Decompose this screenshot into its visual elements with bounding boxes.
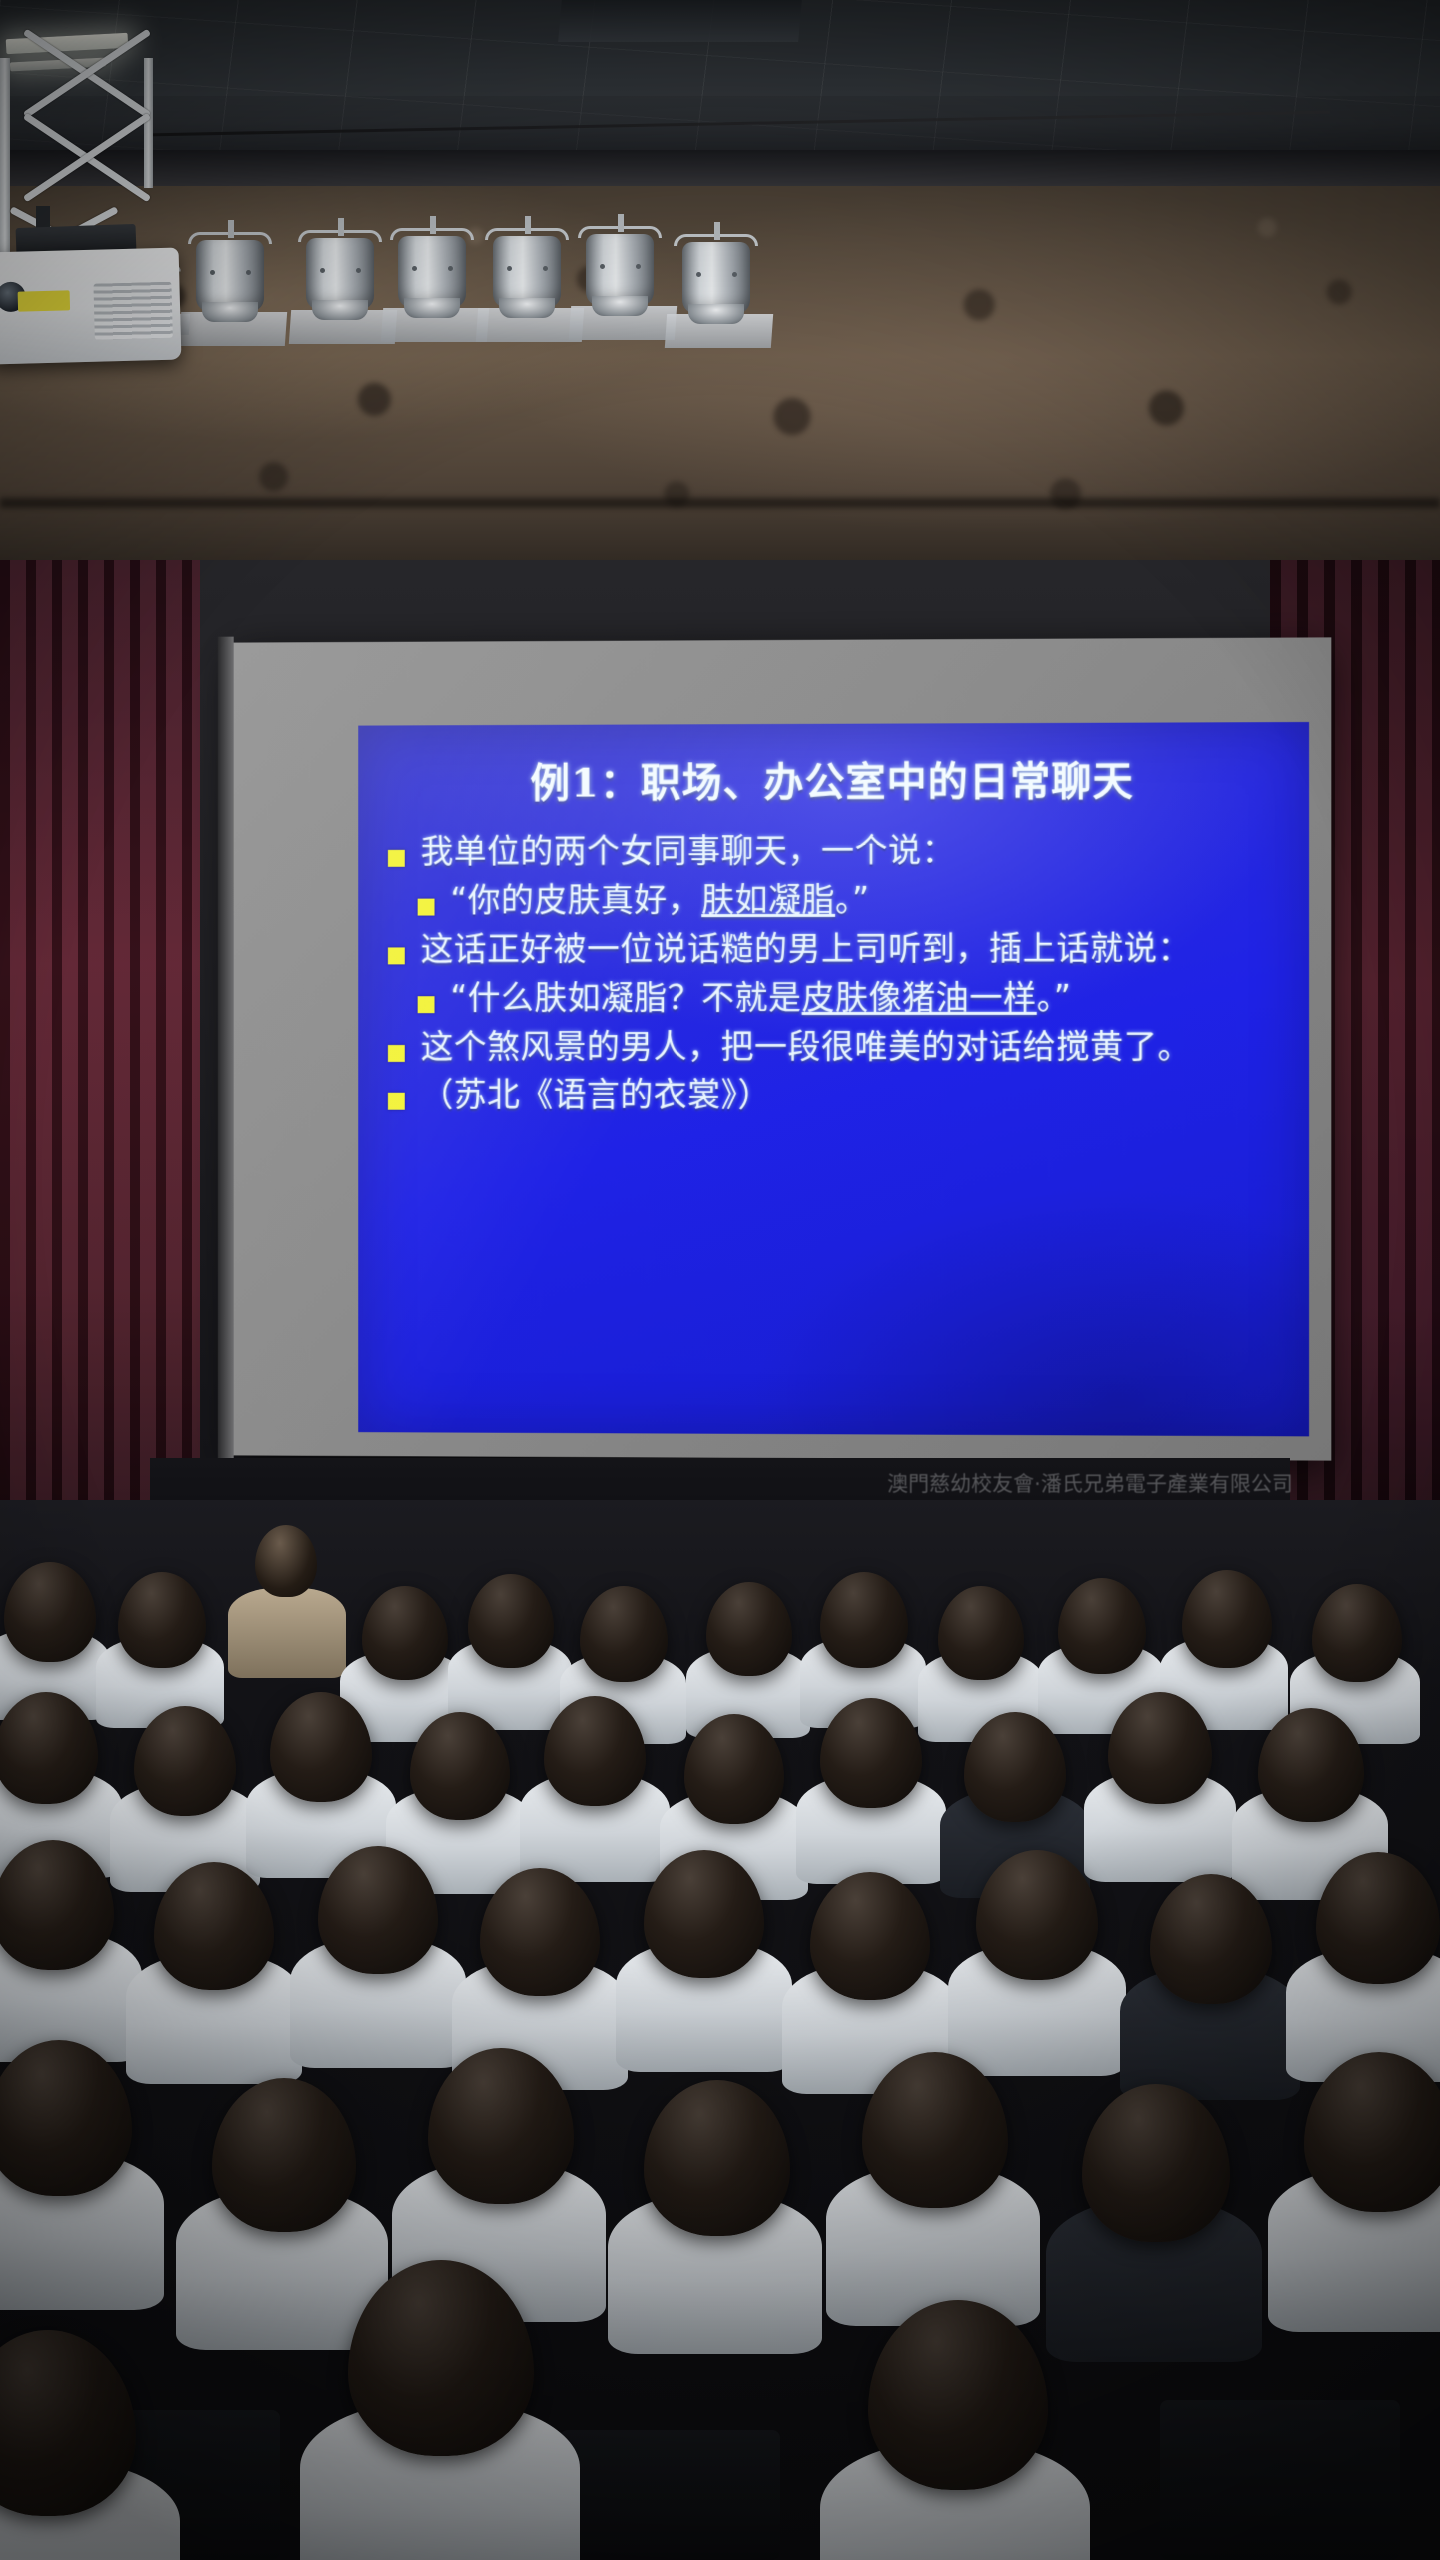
slide-bullet-list: 我单位的两个女同事聊天，一个说： “你的皮肤真好，肤如凝脂。” 这话正好被一位说… bbox=[388, 829, 1283, 1124]
bullet-square-icon bbox=[388, 850, 405, 867]
spotlight-icon-3 bbox=[388, 222, 480, 330]
ceiling-duct bbox=[558, 0, 802, 42]
student-head bbox=[1058, 1578, 1146, 1674]
slide-bullet-text: 我单位的两个女同事聊天，一个说： bbox=[421, 830, 956, 874]
chair bbox=[560, 2430, 780, 2560]
audience-area bbox=[0, 1500, 1440, 2560]
marble-texture bbox=[0, 150, 1440, 580]
spotlight-icon-5 bbox=[576, 220, 668, 328]
donor-banner-line1: 澳門慈幼校友會·潘氏兄弟電子產業有限公司 bbox=[740, 1470, 1440, 1498]
slide-bullet-text: “什么肤如凝脂？不就是皮肤像猪油一样。” bbox=[450, 976, 1071, 1019]
bullet-square-icon bbox=[388, 1093, 405, 1110]
bullet-square-icon bbox=[388, 947, 405, 964]
bullet-square-icon bbox=[388, 1045, 405, 1062]
slide-bullet-text: 这话正好被一位说话糙的男上司听到，插上话就说： bbox=[421, 927, 1192, 971]
spotlight-icon-2 bbox=[296, 224, 388, 332]
spotlight-icon-1 bbox=[186, 226, 278, 334]
slide-title: 例1：职场、办公室中的日常聊天 bbox=[358, 748, 1309, 809]
student-head bbox=[1316, 1852, 1440, 1984]
presentation-slide: 例1：职场、办公室中的日常聊天 我单位的两个女同事聊天，一个说： “你的皮肤真好… bbox=[358, 722, 1309, 1436]
student-head bbox=[0, 2330, 136, 2516]
student-head bbox=[1182, 1570, 1272, 1668]
slide-bullet-item: 这个煞风景的男人，把一段很唯美的对话给搅黄了。 bbox=[388, 1025, 1283, 1068]
curtain-left bbox=[0, 560, 200, 1570]
slide-bullet-text: “你的皮肤真好，肤如凝脂。” bbox=[450, 879, 869, 923]
projector-label-sticker bbox=[18, 290, 71, 311]
slide-bullet-item: 我单位的两个女同事聊天，一个说： bbox=[388, 829, 1283, 874]
slide-bullet-item: “你的皮肤真好，肤如凝脂。” bbox=[388, 878, 1283, 922]
bullet-square-icon bbox=[418, 996, 435, 1013]
student-head bbox=[4, 1562, 96, 1662]
slide-bullet-text: 这个煞风景的男人，把一段很唯美的对话给搅黄了。 bbox=[421, 1025, 1192, 1068]
bullet-square-icon bbox=[418, 898, 435, 915]
student-head bbox=[1082, 2084, 1230, 2242]
student-head bbox=[580, 1586, 668, 1682]
projector-icon bbox=[0, 248, 181, 365]
student-head bbox=[362, 1586, 448, 1680]
student-head bbox=[0, 2040, 132, 2196]
projector-vent bbox=[93, 282, 172, 340]
student-head bbox=[480, 1868, 600, 1996]
spotlight-icon-4 bbox=[483, 222, 575, 330]
student-head bbox=[868, 2300, 1048, 2490]
slide-bullet-item: （苏北《语言的衣裳》） bbox=[388, 1074, 1283, 1117]
student-head bbox=[212, 2078, 356, 2232]
student-head bbox=[118, 1572, 206, 1668]
teacher-body bbox=[228, 1588, 346, 1678]
slide-bullet-item: “什么肤如凝脂？不就是皮肤像猪油一样。” bbox=[388, 976, 1283, 1019]
wall-top-band bbox=[0, 150, 1440, 186]
wall-shadow-line bbox=[0, 498, 1440, 508]
student-head bbox=[644, 2080, 790, 2236]
student-head bbox=[706, 1582, 792, 1676]
student-head bbox=[810, 1872, 930, 2000]
slide-bullet-item: 这话正好被一位说话糙的男上司听到，插上话就说： bbox=[388, 927, 1283, 971]
spotlight-icon-6 bbox=[672, 228, 764, 336]
student-head bbox=[468, 1574, 554, 1668]
slide-bullet-text: （苏北《语言的衣裳》） bbox=[421, 1074, 771, 1117]
chair bbox=[1160, 2400, 1400, 2560]
student-head bbox=[820, 1572, 908, 1668]
lecture-hall-scene: 例1：职场、办公室中的日常聊天 我单位的两个女同事聊天，一个说： “你的皮肤真好… bbox=[0, 0, 1440, 2560]
student-head bbox=[938, 1586, 1024, 1680]
student-head bbox=[1312, 1584, 1402, 1682]
lift-post-secondary bbox=[144, 58, 153, 188]
projection-screen: 例1：职场、办公室中的日常聊天 我单位的两个女同事聊天，一个说： “你的皮肤真好… bbox=[232, 637, 1332, 1460]
marble-wall bbox=[0, 150, 1440, 580]
teacher-head bbox=[255, 1525, 317, 1597]
